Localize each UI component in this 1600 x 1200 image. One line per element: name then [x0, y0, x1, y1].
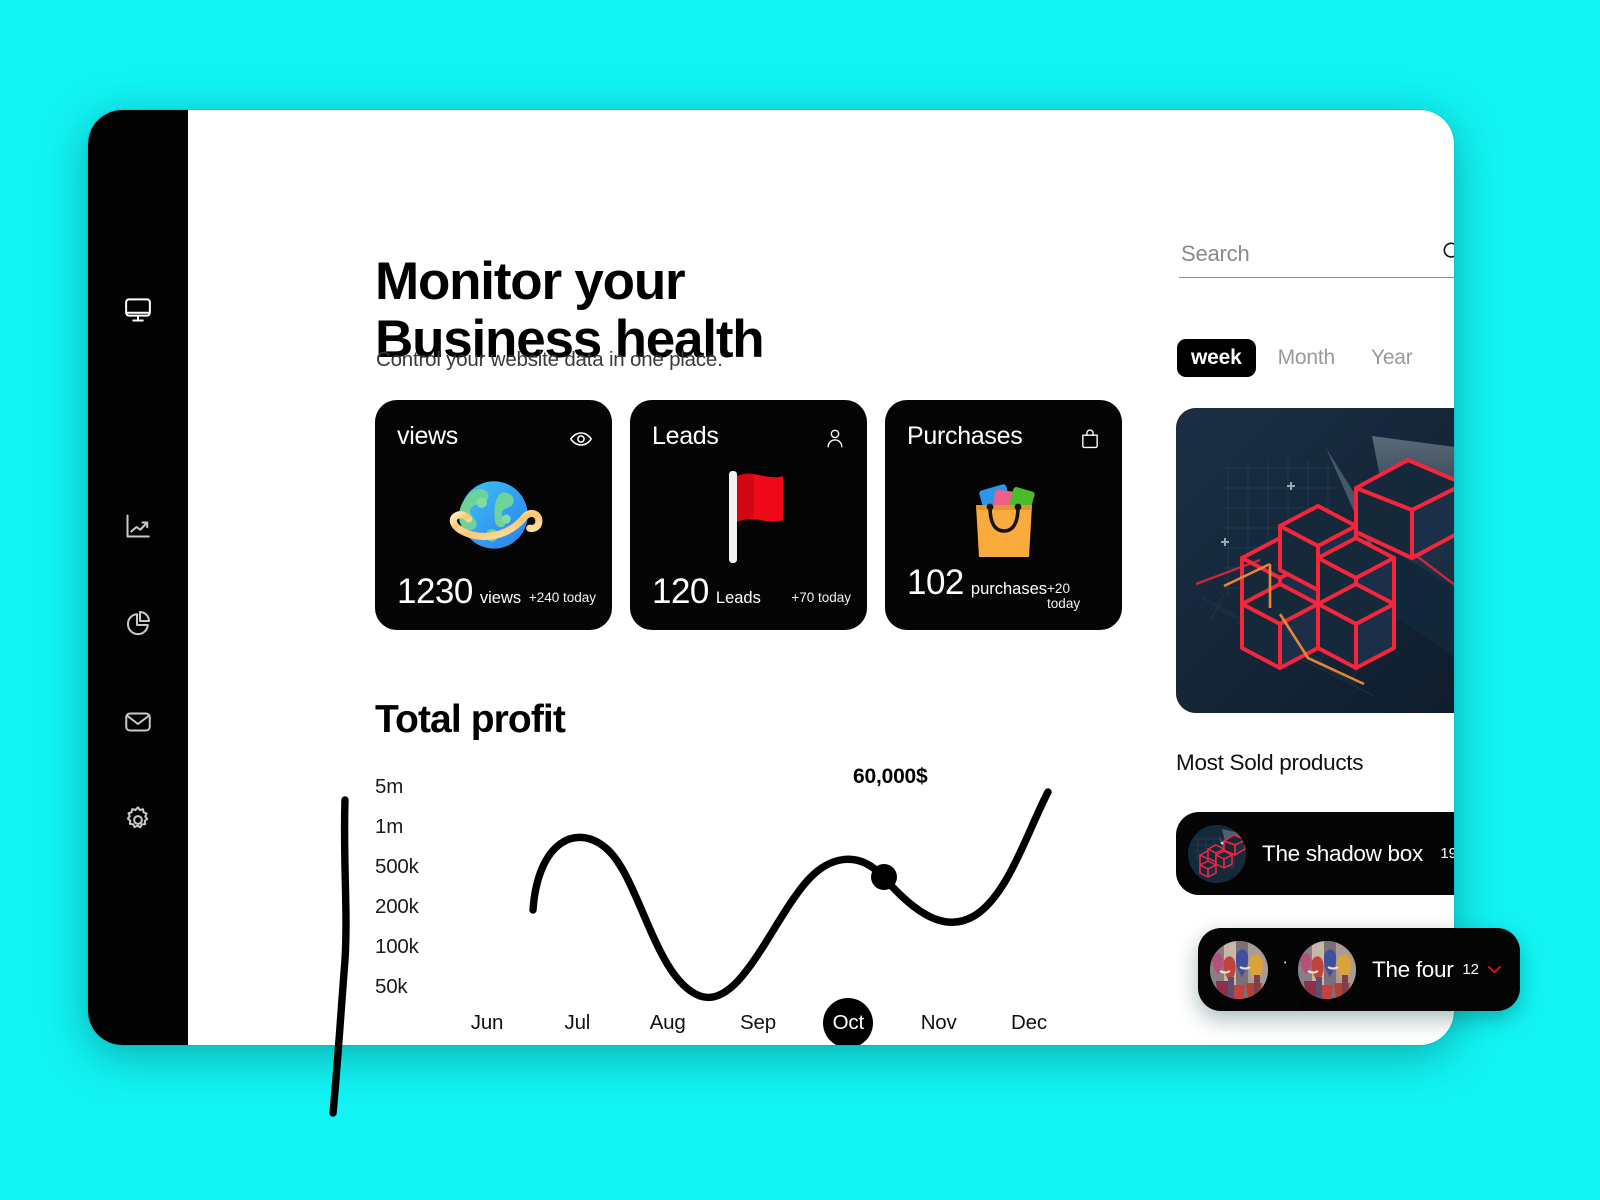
product-row-shadow-box[interactable]: The shadow box 19: [1176, 812, 1454, 895]
search-input[interactable]: [1179, 240, 1423, 268]
screen: Monitor your Business health Control you…: [0, 0, 1600, 1200]
stat-card-delta: +70 today: [791, 590, 851, 605]
stat-card-title: Leads: [652, 422, 719, 451]
globe-emoji: [375, 462, 612, 572]
four-figures-thumbnail: [1298, 941, 1356, 999]
stat-card-delta: +240 today: [529, 590, 596, 605]
shopping-bags-emoji: [885, 462, 1122, 572]
trend-down-icon: [1487, 964, 1502, 975]
envelope-icon: [123, 707, 153, 737]
stat-cards: views: [375, 400, 1122, 630]
stat-card-unit: Leads: [716, 589, 761, 608]
total-profit-chart: 5m 1m 500k 200k 100k 50k 60,000$ Jun: [288, 750, 1148, 1045]
shopping-bag-icon[interactable]: [1079, 427, 1101, 449]
period-tabs: week Month Year: [1177, 339, 1427, 377]
tab-year[interactable]: Year: [1357, 339, 1427, 377]
search-bar[interactable]: [1179, 240, 1454, 278]
stat-card-footer: 102 purchases +20 today: [907, 563, 1106, 612]
four-figures-thumbnail: [1210, 941, 1268, 999]
product-name: The four figures: [1372, 957, 1454, 983]
person-icon[interactable]: [824, 427, 846, 449]
stat-card-purchases[interactable]: Purchases: [885, 400, 1122, 630]
chart-x-axis: Jun Jul Aug Sep Oct Nov Dec: [448, 998, 1068, 1045]
stat-card-unit: views: [480, 589, 521, 608]
product-value: 19: [1440, 845, 1454, 862]
stat-card-title: Purchases: [907, 422, 1022, 451]
tab-week[interactable]: week: [1177, 339, 1256, 377]
x-tick-jul[interactable]: Jul: [538, 1011, 616, 1035]
x-tick-dec[interactable]: Dec: [990, 1011, 1068, 1035]
chart-title: Total profit: [375, 698, 565, 742]
eye-icon[interactable]: [569, 427, 591, 449]
x-tick-aug[interactable]: Aug: [629, 1011, 707, 1035]
sidebar-item-analytics[interactable]: [110, 498, 166, 554]
stat-card-title: views: [397, 422, 458, 451]
search-icon[interactable]: [1441, 240, 1454, 268]
gear-icon: [123, 805, 153, 835]
app-window: Monitor your Business health Control you…: [88, 110, 1454, 1045]
main-content: Monitor your Business health Control you…: [188, 110, 1454, 1045]
product-value: 12: [1462, 961, 1479, 978]
x-tick-jun[interactable]: Jun: [448, 1011, 526, 1035]
stat-card-unit: purchases: [971, 580, 1047, 599]
x-tick-nov[interactable]: Nov: [900, 1011, 978, 1035]
x-tick-sep[interactable]: Sep: [719, 1011, 797, 1035]
page-subtitle: Control your website data in one place.: [376, 348, 723, 372]
stat-card-leads[interactable]: Leads: [630, 400, 867, 630]
stat-card-footer: 1230 views +240 today: [397, 572, 596, 612]
stat-card-value: 102: [907, 563, 964, 603]
x-tick-oct[interactable]: Oct: [823, 998, 873, 1045]
sidebar-item-reports[interactable]: [110, 596, 166, 652]
app-window-clip: Monitor your Business health Control you…: [88, 110, 1454, 1045]
pie-chart-icon: [123, 609, 153, 639]
tab-month[interactable]: Month: [1264, 339, 1349, 377]
product-name: The shadow box: [1262, 841, 1423, 867]
page-title-line-1: Monitor your: [375, 252, 684, 311]
stat-card-value: 1230: [397, 572, 473, 612]
sidebar-item-dashboard[interactable]: [110, 282, 166, 338]
line-chart-icon: [123, 511, 153, 541]
most-sold-header: Most Sold products: [1176, 750, 1454, 776]
chart-data-point-oct: [871, 864, 897, 890]
most-sold-title: Most Sold products: [1176, 750, 1363, 776]
shadow-box-artwork[interactable]: [1176, 408, 1454, 713]
sidebar-item-settings[interactable]: [110, 792, 166, 848]
stat-card-views[interactable]: views: [375, 400, 612, 630]
sidebar: [88, 110, 188, 1045]
sidebar-item-messages[interactable]: [110, 694, 166, 750]
product-row-four-figures[interactable]: The four figures 12: [1286, 928, 1454, 1011]
stat-card-value: 120: [652, 572, 709, 612]
stat-card-delta: +20 today: [1047, 581, 1106, 611]
monitor-icon: [123, 295, 153, 325]
red-flag-emoji: [630, 462, 867, 572]
shadow-box-thumbnail: [1188, 825, 1246, 883]
stat-card-footer: 120 Leads +70 today: [652, 572, 851, 612]
